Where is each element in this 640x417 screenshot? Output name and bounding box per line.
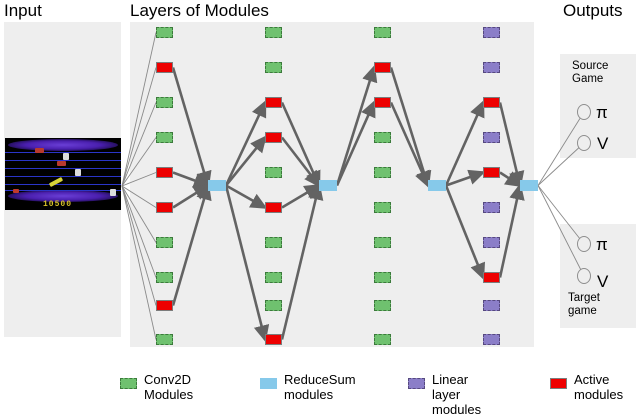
legend-label-red: Active modules — [574, 372, 623, 402]
source-game-title: Source Game — [572, 60, 608, 86]
module-c3-r6-conv[interactable] — [374, 202, 391, 213]
source-policy-node[interactable] — [577, 104, 591, 120]
module-c1-r7-conv[interactable] — [156, 237, 173, 248]
heading-outputs: Outputs — [563, 1, 623, 21]
module-c1-r9-active[interactable] — [156, 300, 173, 311]
module-c1-r2-active[interactable] — [156, 62, 173, 73]
diver-sprite — [63, 153, 69, 160]
target-value-node[interactable] — [577, 268, 591, 284]
module-c1-r8-conv[interactable] — [156, 272, 173, 283]
legend-swatch-blue-icon — [260, 378, 277, 389]
water-line — [5, 176, 121, 177]
module-c3-r8-conv[interactable] — [374, 272, 391, 283]
module-c4-r1-lin[interactable] — [483, 27, 500, 38]
legend-swatch-red-icon — [550, 378, 567, 389]
legend-label-blue: ReduceSum modules — [284, 372, 356, 402]
module-c3-r4-conv[interactable] — [374, 132, 391, 143]
module-c2-r7-conv[interactable] — [265, 237, 282, 248]
module-c1-r10-conv[interactable] — [156, 334, 173, 345]
target-policy-label: π — [596, 235, 608, 255]
module-c1-r4-conv[interactable] — [156, 132, 173, 143]
reducesum-1[interactable] — [208, 180, 226, 191]
module-c3-r10-conv[interactable] — [374, 334, 391, 345]
source-title-line2: Game — [572, 73, 603, 85]
module-c1-r6-active[interactable] — [156, 202, 173, 213]
module-c4-r2-lin[interactable] — [483, 62, 500, 73]
input-game-screenshot: 10500 — [5, 138, 121, 210]
source-policy-label: π — [596, 103, 608, 123]
enemy-fish — [35, 148, 44, 153]
heading-input: Input — [4, 1, 42, 21]
water-line — [5, 190, 121, 191]
module-c4-r6-lin[interactable] — [483, 202, 500, 213]
module-c2-r2-conv[interactable] — [265, 62, 282, 73]
target-title-line1: Target — [568, 292, 600, 304]
module-c4-r10-lin[interactable] — [483, 334, 500, 345]
target-game-title: Target game — [568, 292, 600, 318]
target-value-label: V — [597, 272, 608, 292]
module-c3-r5-conv[interactable] — [374, 167, 391, 178]
module-c4-r4-lin[interactable] — [483, 132, 500, 143]
module-c1-r3-conv[interactable] — [156, 97, 173, 108]
legend-label-lin: Linear layer modules — [432, 372, 481, 417]
module-c4-r3-active[interactable] — [483, 97, 500, 108]
water-surface-top — [8, 139, 118, 151]
module-c3-r2-active[interactable] — [374, 62, 391, 73]
module-c2-r9-conv[interactable] — [265, 300, 282, 311]
module-c4-r9-lin[interactable] — [483, 300, 500, 311]
module-c2-r8-conv[interactable] — [265, 272, 282, 283]
module-c4-r8-active[interactable] — [483, 272, 500, 283]
target-title-line2: game — [568, 305, 597, 317]
module-c2-r6-active[interactable] — [265, 202, 282, 213]
module-c2-r4-active[interactable] — [265, 132, 282, 143]
module-c2-r5-conv[interactable] — [265, 167, 282, 178]
module-c1-r5-active[interactable] — [156, 167, 173, 178]
module-c1-r1-conv[interactable] — [156, 27, 173, 38]
module-c4-r5-active[interactable] — [483, 167, 500, 178]
heading-layers: Layers of Modules — [130, 1, 269, 21]
diver-sprite — [110, 189, 116, 196]
target-policy-node[interactable] — [577, 236, 591, 252]
source-value-node[interactable] — [577, 135, 591, 151]
reducesum-4[interactable] — [520, 180, 538, 191]
source-value-label: V — [597, 134, 608, 154]
module-c3-r3-active[interactable] — [374, 97, 391, 108]
legend-label-conv: Conv2D Modules — [144, 372, 193, 402]
module-c2-r10-active[interactable] — [265, 334, 282, 345]
module-c3-r7-conv[interactable] — [374, 237, 391, 248]
enemy-fish — [57, 161, 66, 166]
legend: Conv2D ModulesReduceSum modulesLinear la… — [120, 374, 640, 412]
reducesum-2[interactable] — [319, 180, 337, 191]
source-title-line1: Source — [572, 60, 608, 72]
reducesum-3[interactable] — [428, 180, 446, 191]
game-score: 10500 — [43, 200, 72, 209]
enemy-fish — [13, 189, 19, 193]
module-c3-r1-conv[interactable] — [374, 27, 391, 38]
module-c2-r1-conv[interactable] — [265, 27, 282, 38]
legend-swatch-lin-icon — [408, 378, 425, 389]
diver-sprite — [75, 169, 81, 176]
module-c3-r9-conv[interactable] — [374, 300, 391, 311]
module-c2-r3-active[interactable] — [265, 97, 282, 108]
legend-swatch-conv-icon — [120, 378, 137, 389]
water-line — [5, 168, 121, 169]
player-submarine — [49, 177, 63, 187]
module-c4-r7-lin[interactable] — [483, 237, 500, 248]
water-line — [5, 184, 121, 185]
diagram-canvas: Input Layers of Modules Outputs 10500 — [0, 0, 640, 412]
